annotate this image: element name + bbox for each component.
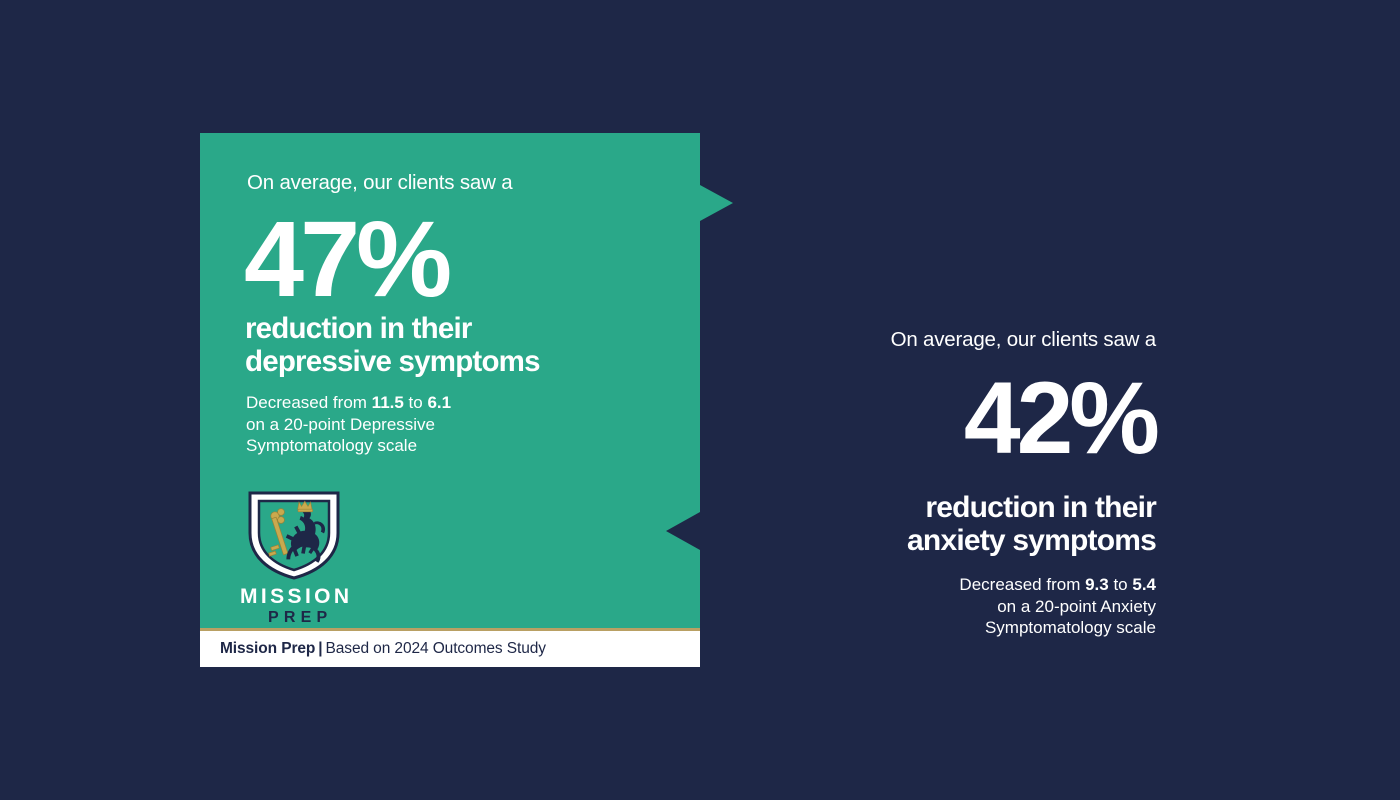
logo-wordmark-prep: PREP — [268, 610, 360, 626]
footer-source: Based on 2024 Outcomes Study — [326, 640, 546, 657]
left-detail-to-value: 6.1 — [427, 393, 451, 412]
shield-crest-icon — [244, 488, 344, 580]
logo-wordmark: MISSION PREP — [240, 586, 360, 626]
left-detail-line-2: on a 20-point Depressive — [246, 415, 435, 434]
right-detail-text: Decreased from 9.3 to 5.4 on a 20-point … — [760, 574, 1156, 639]
left-detail-text: Decreased from 11.5 to 6.1 on a 20-point… — [246, 392, 451, 457]
right-headline-line-2: anxiety symptoms — [907, 524, 1156, 557]
card-footer-bar: Mission Prep|Based on 2024 Outcomes Stud… — [200, 631, 700, 667]
right-detail-mid: to — [1109, 575, 1133, 594]
infographic-canvas: On average, our clients saw a 47% reduct… — [0, 0, 1400, 800]
card-arrow-pointer — [700, 185, 733, 221]
footer-attribution: Mission Prep|Based on 2024 Outcomes Stud… — [220, 640, 546, 658]
logo-wordmark-mission: MISSION — [240, 586, 360, 607]
anxiety-stat-panel: On average, our clients saw a 42% reduct… — [760, 330, 1156, 639]
left-stat-percentage: 47% — [244, 205, 448, 313]
footer-brand: Mission Prep — [220, 640, 315, 657]
right-eyebrow-text: On average, our clients saw a — [760, 330, 1156, 351]
right-detail-lead: Decreased from — [959, 575, 1085, 594]
right-detail-line-2: on a 20-point Anxiety — [997, 597, 1156, 616]
card-green-body: On average, our clients saw a 47% reduct… — [200, 133, 700, 628]
left-headline-line-1: reduction in their — [245, 312, 472, 345]
right-detail-line-3: Symptomatology scale — [985, 618, 1156, 637]
right-detail-from-value: 9.3 — [1085, 575, 1109, 594]
mission-prep-logo: MISSION PREP — [240, 488, 360, 626]
left-headline: reduction in their depressive symptoms — [245, 312, 540, 379]
left-detail-mid: to — [404, 393, 428, 412]
depression-stat-card: On average, our clients saw a 47% reduct… — [200, 133, 700, 667]
right-stat-percentage: 42% — [760, 367, 1156, 469]
left-detail-line-3: Symptomatology scale — [246, 436, 417, 455]
right-detail-to-value: 5.4 — [1132, 575, 1156, 594]
left-detail-from-value: 11.5 — [372, 393, 404, 412]
right-headline: reduction in their anxiety symptoms — [760, 491, 1156, 559]
left-eyebrow-text: On average, our clients saw a — [247, 171, 512, 195]
right-headline-line-1: reduction in their — [925, 491, 1156, 524]
left-headline-line-2: depressive symptoms — [245, 345, 540, 378]
left-detail-lead: Decreased from — [246, 393, 372, 412]
footer-separator: | — [315, 640, 325, 658]
